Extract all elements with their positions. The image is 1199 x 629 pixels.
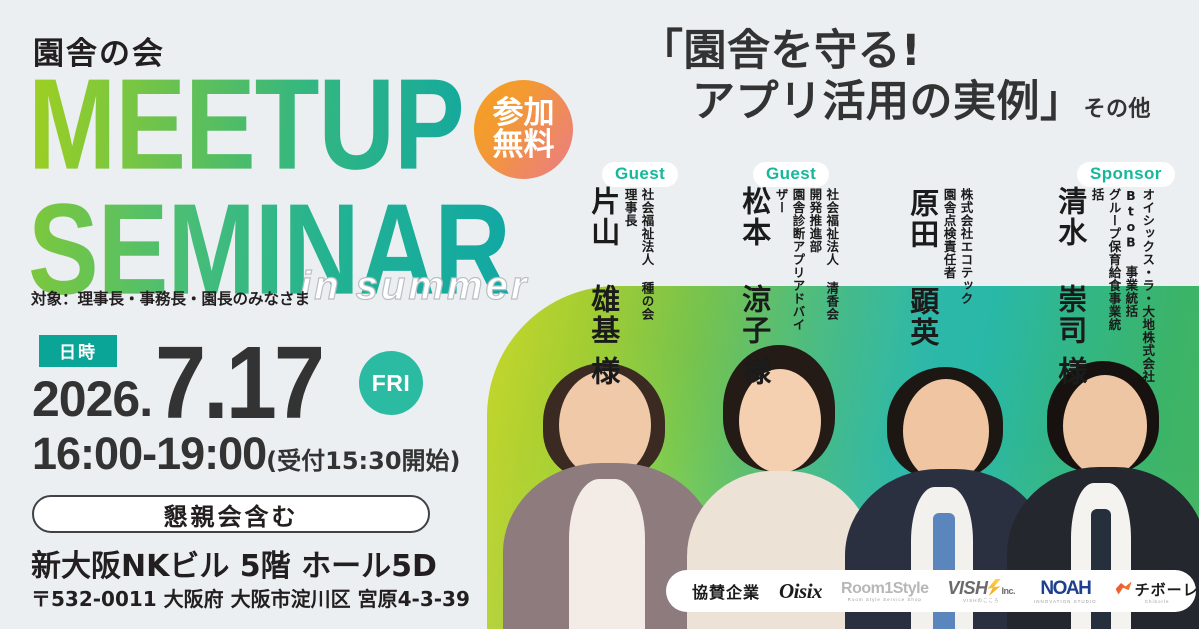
event-venue: 新大阪NKビル 5階 ホール5D [31, 541, 437, 585]
sponsor-logo-room1style[interactable]: Room1Style Room Style Service Shop [841, 580, 928, 602]
free-badge-line-1: 参加 [493, 98, 555, 130]
event-date: 7.17 [155, 325, 322, 443]
topic-line-2: アプリ活用の実例」 [692, 77, 1084, 127]
topic-line-1: 「園舎を守る! [640, 26, 1199, 77]
event-weekday-badge: FRI [359, 351, 423, 415]
sponsor-bar: 協賛企業 Oisix Room1Style Room Style Service… [666, 570, 1196, 612]
speaker-1-role: 理事長 [621, 188, 638, 227]
speaker-2-name: 松本 涼子様 [737, 186, 772, 387]
date-label-badge: 日時 [39, 335, 117, 367]
speaker-1-affiliation: 社会福祉法人 種の会 [638, 188, 655, 321]
bolt-icon [988, 579, 1001, 596]
free-participation-badge: 参加 無料 [474, 80, 573, 179]
speaker-3: 株式会社エコテック 園舎点検責任者 原田 顕英 [905, 162, 974, 332]
event-address: 〒532-0011 大阪府 大阪市淀川区 宮原4-3-39 [31, 583, 470, 612]
speaker-2-affiliation: 社会福祉法人 清香会 [822, 188, 839, 321]
swish-icon [1116, 582, 1132, 595]
topic-title: 「園舎を守る! アプリ活用の実例」その他 [640, 26, 1199, 127]
target-audience: 対象：理事長・事務長・園長のみなさま [31, 287, 310, 309]
event-time: 16:00-19:00 [32, 428, 266, 479]
speaker-3-name: 原田 顕英 [905, 188, 940, 348]
topic-suffix: その他 [1084, 97, 1152, 122]
event-time-row: 16:00-19:00(受付15:30開始) [32, 428, 461, 480]
speaker-1-badge: Guest [602, 162, 678, 187]
speaker-2-badge: Guest [753, 162, 829, 187]
sponsor-logo-vish[interactable]: VISHInc. VISHのこころ [948, 578, 1016, 604]
event-year: 2026. [32, 370, 152, 428]
event-time-note: (受付15:30開始) [266, 447, 460, 475]
speaker-1-name: 片山 雄基様 [586, 186, 621, 387]
topic-line-2-wrap: アプリ活用の実例」その他 [692, 77, 1199, 128]
speaker-2: Guest 社会福祉法人 清香会 開発推進部 園舎診断アプリアドバイザー 松本 … [737, 162, 839, 332]
sponsor-logo-noah[interactable]: NOAH INNOVATION STUDIO [1034, 578, 1097, 604]
networking-pill: 懇親会含む [32, 495, 430, 533]
speaker-3-affiliation: 株式会社エコテック [957, 188, 974, 305]
tagline-in-summer: in summer [300, 264, 529, 309]
speaker-4-name: 清水 崇司様 [1053, 186, 1088, 387]
speaker-3-role: 園舎点検責任者 [940, 188, 957, 279]
sponsor-bar-title: 協賛企業 [692, 579, 760, 603]
speaker-4-affiliation: オイシックス・ラ・大地株式会社 [1138, 188, 1155, 383]
seminar-poster: 園舎の会 MEETUP SEMINAR in summer 対象：理事長・事務長… [0, 0, 1199, 629]
speaker-1: Guest 社会福祉法人 種の会 理事長 片山 雄基様 [586, 162, 655, 332]
speaker-4-role: BtoB 事業統括 グループ保育給食事業統括 [1088, 188, 1139, 332]
speaker-4: Sponsor オイシックス・ラ・大地株式会社 BtoB 事業統括 グループ保育… [1053, 162, 1155, 332]
free-badge-line-2: 無料 [493, 130, 555, 162]
speaker-4-badge: Sponsor [1077, 162, 1175, 187]
title-meetup: MEETUP [28, 60, 464, 189]
sponsor-logo-oisix[interactable]: Oisix [779, 579, 822, 604]
speaker-2-role: 開発推進部 園舎診断アプリアドバイザー [772, 188, 823, 332]
sponsor-logo-tiborle[interactable]: チボーレ Chiborle [1116, 579, 1199, 604]
